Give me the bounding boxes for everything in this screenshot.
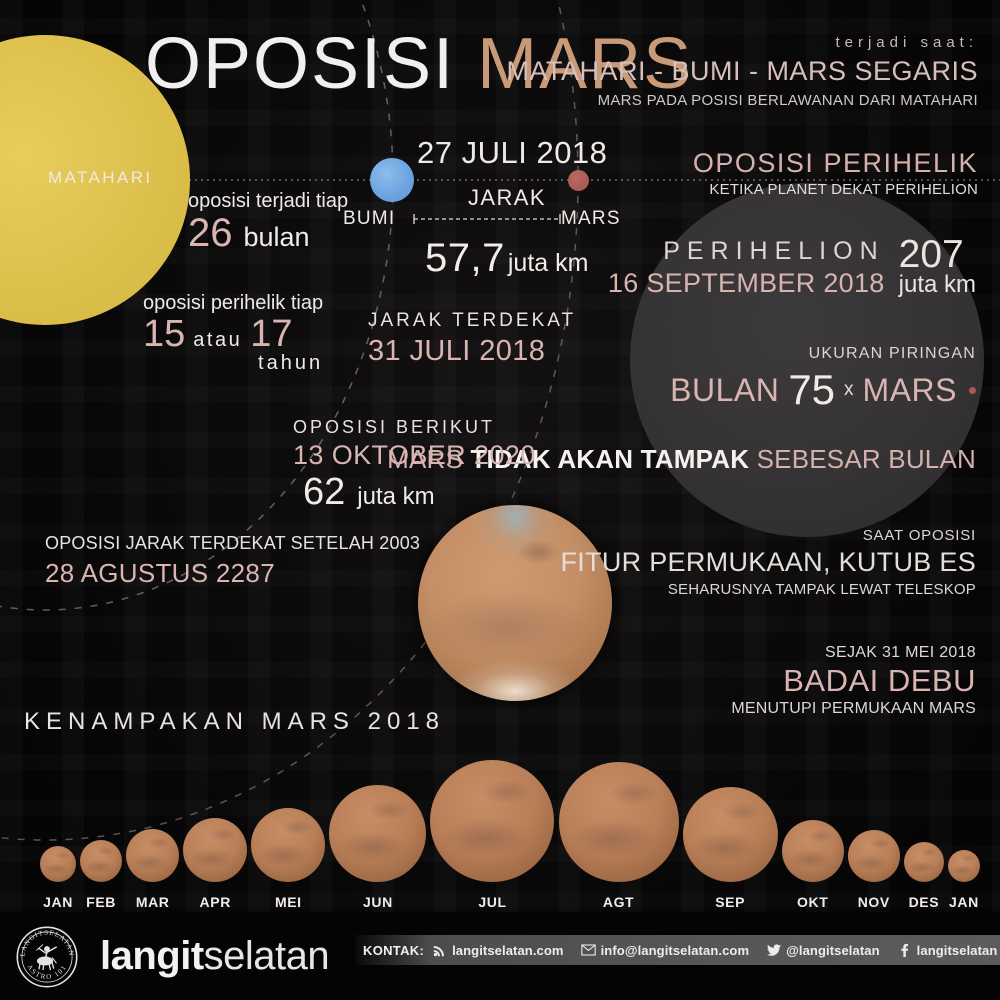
next-distance-value: 62 — [303, 471, 345, 514]
next-distance-unit: juta km — [357, 483, 434, 511]
perihelik-header: OPOSISI PERIHELIK KETIKA PLANET DEKAT PE… — [693, 148, 978, 198]
brand-part1: langit — [100, 934, 204, 978]
earth-label: BUMI — [343, 208, 395, 230]
mars-disk-apr — [183, 818, 247, 882]
month-label: FEB — [86, 894, 116, 910]
distance-dimension-line — [413, 212, 561, 226]
month-cell: MEI — [251, 760, 325, 910]
distance-value-block: 57,7 juta km — [425, 236, 588, 281]
header-line1: terjadi saat: — [506, 34, 978, 51]
twitter-icon — [766, 943, 781, 958]
month-label: DES — [909, 894, 940, 910]
stat15-caption: oposisi perihelik tiap — [143, 292, 323, 315]
distance-caption: JARAK — [468, 185, 546, 211]
contact-item[interactable]: langitselatan — [897, 943, 998, 958]
brand-part2: selatan — [204, 934, 329, 978]
month-cell: JUL — [430, 760, 554, 910]
appearance-section-title: KENAMPAKAN MARS 2018 — [24, 708, 445, 736]
opposition-date: 27 JULI 2018 — [417, 135, 607, 171]
infographic-poster: MATAHARI OPOSISI MARS terjadi saat: MATA… — [0, 0, 1000, 1000]
fitur-main: FITUR PERMUKAAN, KUTUB ES — [560, 547, 976, 578]
month-label: OKT — [797, 894, 828, 910]
header-block: terjadi saat: MATAHARI - BUMI - MARS SEG… — [506, 34, 978, 109]
title-word-oposisi: OPOSISI — [145, 24, 455, 104]
mars-word: MARS — [863, 372, 957, 409]
closest-caption: JARAK TERDEKAT — [368, 310, 576, 332]
mars-label: MARS — [561, 208, 621, 230]
stat26-number: 26 — [188, 211, 233, 256]
disk-size-block: UKURAN PIRINGAN BULAN 75 x MARS — [670, 345, 976, 414]
perihelion-distance-unit: juta km — [899, 273, 976, 297]
distance-unit: juta km — [508, 249, 589, 278]
stat-perihelic-interval: oposisi perihelik tiap 15 atau 17 tahun — [143, 292, 323, 375]
month-label: MAR — [136, 894, 170, 910]
earth-planet-icon — [370, 158, 414, 202]
contact-label-text: @langitselatan — [786, 943, 880, 958]
after2003-date: 28 AGUSTUS 2287 — [45, 558, 420, 589]
month-label: SEP — [715, 894, 745, 910]
month-cell: NOV — [848, 760, 900, 910]
mars-disk-mar — [126, 829, 179, 882]
mars-disk-des — [904, 842, 944, 882]
stat-opposition-interval: oposisi terjadi tiap 26 bulan — [188, 190, 348, 256]
mars-disk-jun — [329, 785, 426, 882]
distance-value: 57,7 — [425, 236, 505, 281]
mars-disk-jul — [430, 760, 554, 882]
month-label: JUL — [478, 894, 506, 910]
mars-planet-icon — [568, 170, 589, 191]
month-cell: AGT — [559, 760, 679, 910]
contact-label-text: langitselatan.com — [452, 943, 564, 958]
perihelik-subtitle: KETIKA PLANET DEKAT PERIHELION — [693, 181, 978, 198]
contact-label-text: langitselatan — [917, 943, 998, 958]
mars-disk-okt — [782, 820, 844, 882]
month-label: MEI — [275, 894, 302, 910]
mars-size-progression: JANFEBMARAPRMEIJUNJULAGTSEPOKTNOVDESJAN — [40, 760, 980, 910]
after2003-caption: OPOSISI JARAK TERDEKAT SETELAH 2003 — [45, 533, 420, 554]
langitselatan-logo-icon: LANGITSELATAN ASTRO 101 — [14, 924, 80, 990]
month-label: NOV — [858, 894, 890, 910]
month-cell: SEP — [683, 760, 778, 910]
stat26-unit: bulan — [244, 222, 310, 253]
facebook-icon — [897, 943, 912, 958]
stat15-conjunction: atau — [193, 329, 242, 352]
perihelion-distance-value: 207 — [899, 236, 976, 273]
mars-disk-feb — [80, 840, 122, 882]
rss-icon — [432, 943, 447, 958]
size-factor: 75 — [788, 366, 835, 414]
statement-post: SEBESAR BULAN — [749, 444, 976, 474]
perihelion-block: PERIHELION 16 SEPTEMBER 2018 207 juta km — [608, 236, 976, 299]
month-cell: APR — [183, 760, 247, 910]
month-cell: JAN — [948, 760, 980, 910]
times-symbol: x — [844, 379, 854, 401]
mars-disk-nov — [848, 830, 900, 882]
contact-item[interactable]: info@langitselatan.com — [581, 943, 750, 958]
month-cell: DES — [904, 760, 944, 910]
contact-label: KONTAK: — [363, 943, 424, 958]
sun-label: MATAHARI — [48, 168, 153, 188]
month-cell: MAR — [126, 760, 179, 910]
month-label: JAN — [949, 894, 979, 910]
mars-disk-agt — [559, 762, 679, 882]
badai-sub: MENUTUPI PERMUKAAN MARS — [731, 700, 976, 718]
fitur-caption: SAAT OPOSISI — [560, 527, 976, 544]
mars-tiny-dot-icon — [969, 387, 976, 394]
stat26-caption: oposisi terjadi tiap — [188, 190, 348, 213]
disk-size-caption: UKURAN PIRINGAN — [670, 345, 976, 363]
contact-label-text: info@langitselatan.com — [601, 943, 750, 958]
next-caption: OPOSISI BERIKUT — [293, 417, 536, 438]
mars-disk-sep — [683, 787, 778, 882]
moon-word: BULAN — [670, 372, 779, 409]
next-date: 13 OKTOBER 2020 — [293, 440, 536, 471]
perihelion-date: 16 SEPTEMBER 2018 — [608, 268, 885, 299]
stat15-number-second: 17 — [250, 313, 292, 356]
mars-disk-jan — [948, 850, 980, 882]
envelope-icon — [581, 943, 596, 958]
month-cell: JAN — [40, 760, 76, 910]
month-cell: JUN — [329, 760, 426, 910]
contact-item[interactable]: langitselatan.com — [432, 943, 564, 958]
closest-date: 31 JULI 2018 — [368, 335, 576, 368]
dust-storm-block: SEJAK 31 MEI 2018 BADAI DEBU MENUTUPI PE… — [731, 644, 976, 718]
perihelion-word: PERIHELION — [608, 237, 885, 266]
header-line3: MARS PADA POSISI BERLAWANAN DARI MATAHAR… — [506, 92, 978, 109]
perihelik-title: OPOSISI PERIHELIK — [693, 148, 978, 179]
badai-main: BADAI DEBU — [731, 663, 976, 699]
mars-disk-mei — [251, 808, 325, 882]
month-cell: OKT — [782, 760, 844, 910]
badai-caption: SEJAK 31 MEI 2018 — [731, 644, 976, 662]
header-line2: MATAHARI - BUMI - MARS SEGARIS — [506, 56, 978, 87]
next-opposition-block: OPOSISI BERIKUT 13 OKTOBER 2020 62 juta … — [293, 417, 536, 514]
closest-approach-block: JARAK TERDEKAT 31 JULI 2018 — [368, 310, 576, 368]
month-label: AGT — [603, 894, 634, 910]
month-cell: FEB — [80, 760, 122, 910]
stat15-number-first: 15 — [143, 313, 185, 356]
mars-disk-jan — [40, 846, 76, 882]
surface-features-block: SAAT OPOSISI FITUR PERMUKAAN, KUTUB ES S… — [560, 527, 976, 598]
month-label: JAN — [43, 894, 73, 910]
month-label: JUN — [363, 894, 393, 910]
contact-item[interactable]: @langitselatan — [766, 943, 880, 958]
svg-text:ASTRO 101: ASTRO 101 — [25, 964, 68, 981]
contact-strip: KONTAK: langitselatan.cominfo@langitsela… — [355, 935, 1000, 965]
month-label: APR — [200, 894, 231, 910]
brand-wordmark: langitselatan — [100, 936, 329, 976]
closest-after-2003-block: OPOSISI JARAK TERDEKAT SETELAH 2003 28 A… — [45, 533, 420, 589]
contact-items: langitselatan.cominfo@langitselatan.com@… — [432, 943, 1000, 958]
fitur-sub: SEHARUSNYA TAMPAK LEWAT TELESKOP — [560, 581, 976, 598]
